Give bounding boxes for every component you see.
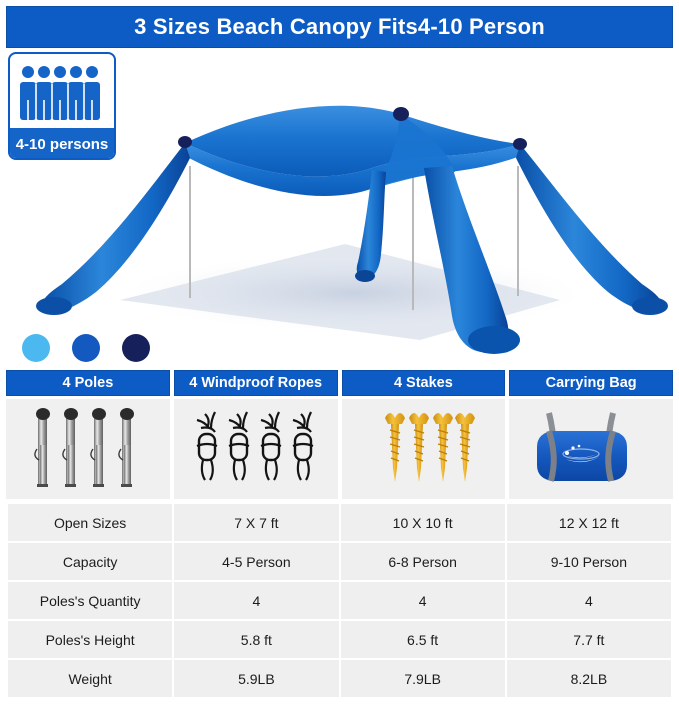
row-label: Open Sizes: [8, 504, 172, 541]
color-swatch-list: [22, 334, 150, 362]
color-swatch-navy[interactable]: [122, 334, 150, 362]
row-value: 10 X 10 ft: [341, 504, 505, 541]
row-value: 9-10 Person: [507, 543, 671, 580]
row-value: 7 X 7 ft: [174, 504, 338, 541]
row-value: 4: [341, 582, 505, 619]
coiled-guy-ropes-icon: [191, 406, 321, 492]
table-row: Poles's Height 5.8 ft 6.5 ft 7.7 ft: [8, 621, 671, 658]
row-value: 7.9LB: [341, 660, 505, 697]
row-value: 4: [174, 582, 338, 619]
product-hero: 4-10 persons: [0, 48, 679, 370]
row-value: 6-8 Person: [341, 543, 505, 580]
table-row: Weight 5.9LB 7.9LB 8.2LB: [8, 660, 671, 697]
row-value: 6.5 ft: [341, 621, 505, 658]
row-value: 5.8 ft: [174, 621, 338, 658]
specification-section: 4 Poles 4 Windproof Ropes 4 Stakes Carry…: [6, 370, 673, 699]
color-swatch-blue[interactable]: [72, 334, 100, 362]
table-row: Capacity 4-5 Person 6-8 Person 9-10 Pers…: [8, 543, 671, 580]
telescoping-poles-cell: [6, 399, 170, 499]
group-of-people-icon: [10, 54, 114, 128]
sand-stakes-cell: [342, 399, 506, 499]
telescoping-poles-icon: [28, 405, 148, 493]
accessory-header-stakes: 4 Stakes: [342, 370, 506, 396]
table-row: Poles's Quantity 4 4 4: [8, 582, 671, 619]
accessory-header-ropes: 4 Windproof Ropes: [174, 370, 338, 396]
row-value: 5.9LB: [174, 660, 338, 697]
guy-ropes-cell: [174, 399, 338, 499]
accessory-header-bag: Carrying Bag: [509, 370, 673, 396]
page-title-banner: 3 Sizes Beach Canopy Fits4-10 Person: [6, 6, 673, 48]
row-label: Poles's Quantity: [8, 582, 172, 619]
blue-duffel-carrying-bag-icon: [521, 403, 661, 495]
carrying-bag-cell: [509, 399, 673, 499]
capacity-badge-label: 4-10 persons: [10, 128, 114, 160]
accessory-image-row: [6, 399, 673, 499]
row-value: 7.7 ft: [507, 621, 671, 658]
table-row: Open Sizes 7 X 7 ft 10 X 10 ft 12 X 12 f…: [8, 504, 671, 541]
specification-table: Open Sizes 7 X 7 ft 10 X 10 ft 12 X 12 f…: [6, 502, 673, 699]
color-swatch-light-blue[interactable]: [22, 334, 50, 362]
row-label: Capacity: [8, 543, 172, 580]
sand-screw-stakes-icon: [371, 406, 475, 492]
row-value: 4: [507, 582, 671, 619]
page-title: 3 Sizes Beach Canopy Fits4-10 Person: [134, 14, 545, 40]
accessory-header-poles: 4 Poles: [6, 370, 170, 396]
accessory-header-row: 4 Poles 4 Windproof Ropes 4 Stakes Carry…: [6, 370, 673, 396]
capacity-badge: 4-10 persons: [8, 52, 116, 160]
row-value: 8.2LB: [507, 660, 671, 697]
row-value: 4-5 Person: [174, 543, 338, 580]
row-label: Poles's Height: [8, 621, 172, 658]
row-label: Weight: [8, 660, 172, 697]
row-value: 12 X 12 ft: [507, 504, 671, 541]
